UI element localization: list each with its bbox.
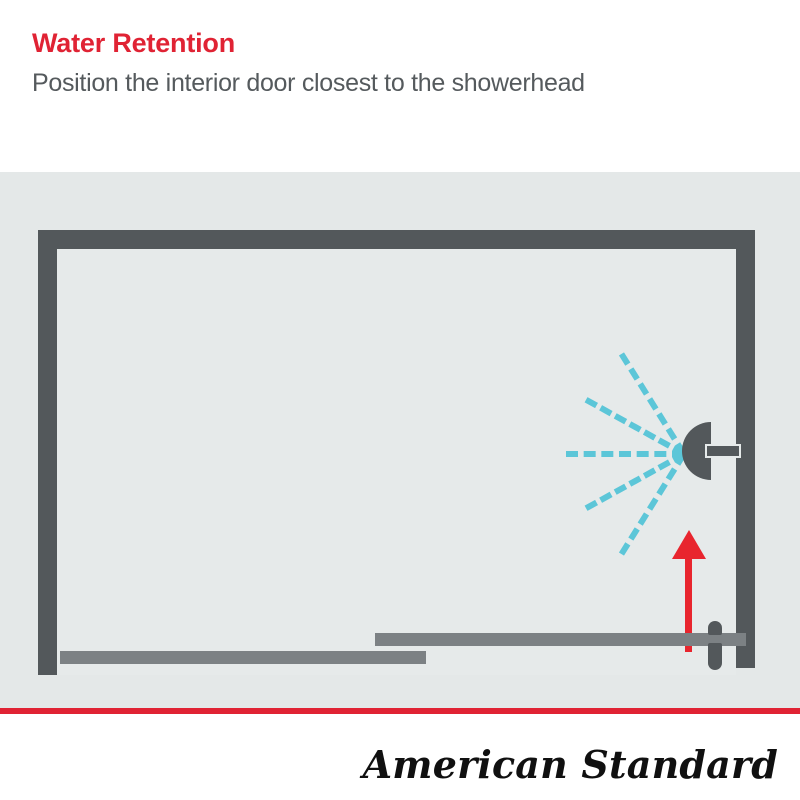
door-handle-bottom [708, 643, 722, 670]
brand-logo: American Standard [363, 742, 778, 787]
door-handle-top [708, 621, 722, 635]
enclosure-wall-top [38, 230, 755, 249]
instruction-card: Water Retention Position the interior do… [0, 0, 800, 800]
sliding-door-inner [375, 633, 746, 646]
page-title: Water Retention [32, 26, 770, 60]
footer-divider [0, 708, 800, 714]
footer: American Standard [0, 708, 800, 800]
spray-ray [566, 451, 684, 457]
page-subtitle: Position the interior door closest to th… [32, 64, 652, 103]
showerhead-group [600, 392, 760, 522]
door-handle-icon [705, 621, 725, 671]
shower-enclosure-diagram [0, 172, 800, 708]
sliding-door-outer [60, 651, 426, 664]
header: Water Retention Position the interior do… [0, 0, 800, 172]
showerhead-arm [705, 444, 741, 458]
enclosure-wall-left [38, 230, 57, 675]
